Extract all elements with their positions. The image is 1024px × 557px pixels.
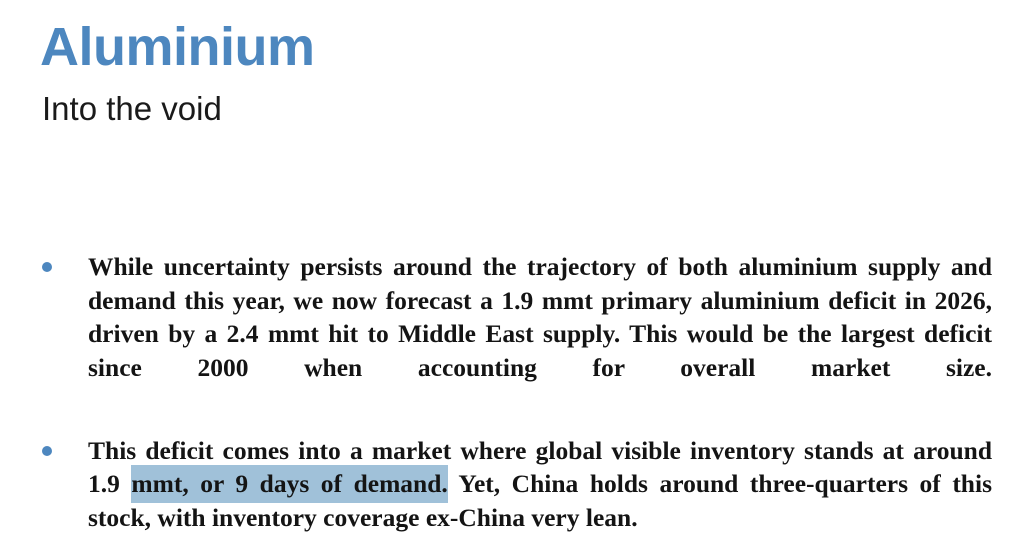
page-subtitle: Into the void	[42, 88, 980, 130]
bullet-text-2: This deficit comes into a market where g…	[88, 434, 992, 535]
bullet-list: While uncertainty persists around the tr…	[40, 250, 992, 534]
highlighted-phrase: mmt, or 9 days of demand.	[131, 465, 447, 503]
page-title: Aluminium	[40, 14, 980, 80]
slide-header: Aluminium Into the void	[40, 14, 980, 130]
slide-canvas: Aluminium Into the void While uncertaint…	[0, 0, 1024, 557]
bullet-point-icon	[42, 446, 52, 456]
list-item: This deficit comes into a market where g…	[40, 434, 992, 535]
list-item: While uncertainty persists around the tr…	[40, 250, 992, 418]
bullet-point-icon	[42, 262, 52, 272]
bullet-text-1: While uncertainty persists around the tr…	[88, 250, 992, 418]
